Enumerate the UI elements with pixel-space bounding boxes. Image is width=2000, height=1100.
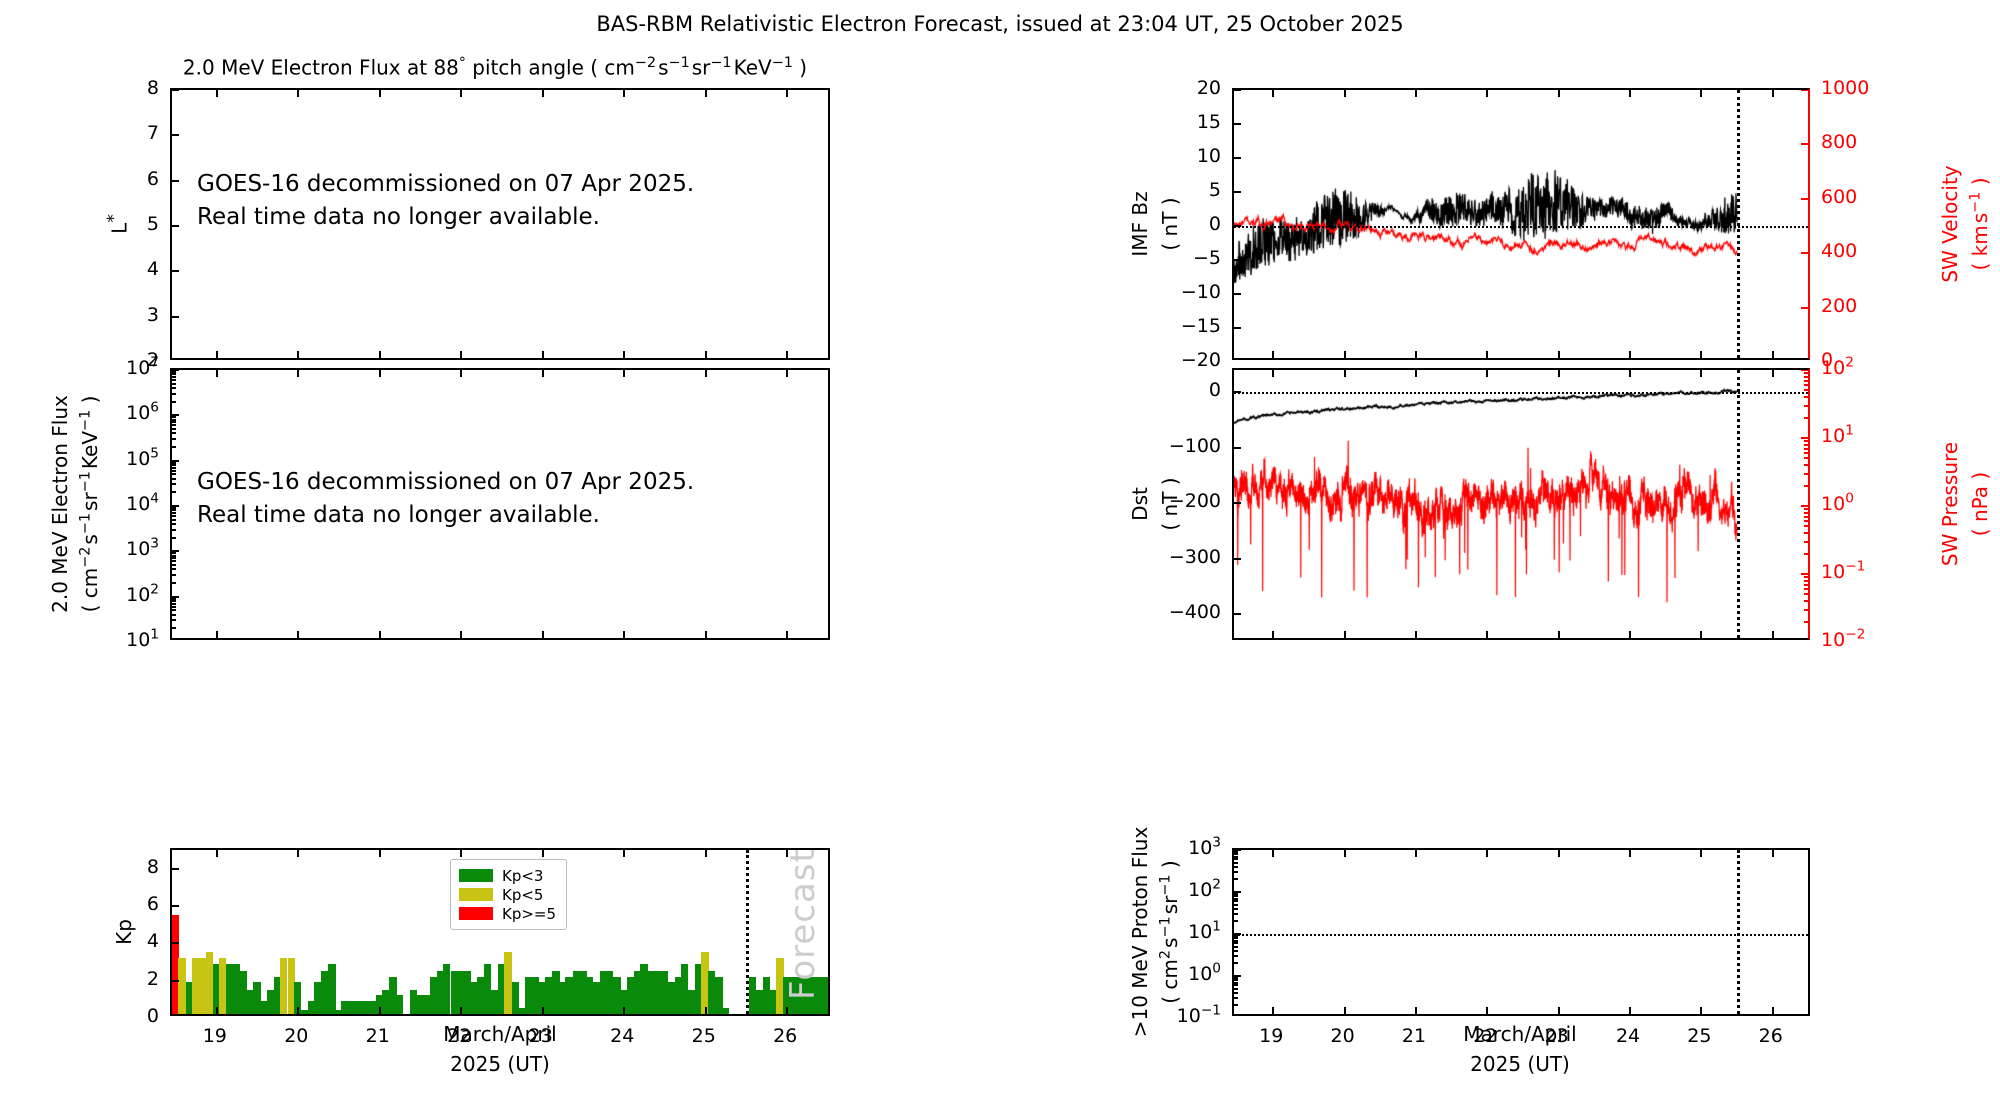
eflux-y-minortick	[172, 555, 176, 557]
eflux-y-minortick	[172, 529, 176, 531]
eflux-y-minortick	[172, 467, 176, 469]
kp-legend-label-0: Kp<3	[502, 867, 543, 885]
xtick-bottom-4	[1558, 1007, 1560, 1014]
dst-y-ticklabel-3: −100	[1169, 435, 1221, 457]
swp-y-minortick	[1804, 452, 1808, 454]
swp-y-minortick	[1804, 485, 1808, 487]
pflux-y-minortick	[1234, 900, 1238, 902]
kp-bar	[423, 995, 430, 1014]
pflux-y-minortick	[1234, 878, 1238, 880]
eflux-y-minortick	[172, 393, 176, 395]
pflux-y-tick-1	[1234, 975, 1241, 977]
xtick-bottom-2	[379, 1007, 381, 1014]
eflux-y-minortick	[172, 606, 176, 608]
xtick-bottom-0	[1272, 1007, 1274, 1014]
forecast-divider-line-proton	[1737, 850, 1740, 1014]
eflux-y-minortick	[172, 568, 176, 570]
kp-y-ticklabel-2: 4	[147, 930, 159, 952]
xtick-bottom-6	[705, 631, 707, 638]
xtick-top-6	[705, 90, 707, 97]
bz-y-tick-1	[1234, 327, 1241, 329]
swv-y-tick-1	[1801, 307, 1808, 309]
xtick-top-3	[460, 90, 462, 97]
pflux-y-minortick	[1234, 856, 1238, 858]
eflux-y-minortick	[172, 560, 176, 562]
eflux-y-minortick	[172, 438, 176, 440]
panel-dst-sw-pressure	[1232, 368, 1810, 640]
swp-y-tick-4	[1801, 369, 1808, 371]
eflux-y-minortick	[172, 478, 176, 480]
eflux-y-minortick	[172, 464, 176, 466]
xtick-bottom-3	[460, 1007, 462, 1014]
bz-y-tick-2	[1234, 293, 1241, 295]
xtick-bottom-5	[1629, 631, 1631, 638]
eflux-y-minortick	[172, 373, 176, 375]
xtick-top-3	[1486, 370, 1488, 377]
lstar-y-tick-5	[172, 134, 179, 136]
xtick-top-1	[297, 90, 299, 97]
swp-y-minortick	[1804, 473, 1808, 475]
xtick-top-2	[379, 850, 381, 857]
xtick-bottom-6	[1700, 1007, 1702, 1014]
eflux-y-minortick	[172, 432, 176, 434]
xtick-bottom-5	[1629, 1007, 1631, 1014]
pflux-y-ticklabel-1: 100	[1188, 963, 1221, 985]
bz-y-ticklabel-7: 15	[1197, 111, 1221, 133]
panel-title-electron-flux-pitch-angle: 2.0 MeV Electron Flux at 88° pitch angle…	[183, 55, 807, 80]
eflux-y-minortick	[172, 379, 176, 381]
swp-y-ticklabel-4: 102	[1821, 357, 1854, 379]
xtick-bottom-7	[1772, 351, 1774, 358]
pflux-y-minortick	[1234, 862, 1238, 864]
xtick-top-4	[1558, 850, 1560, 857]
kp-bar	[565, 977, 572, 1014]
eflux-y-minortick	[172, 537, 176, 539]
eflux-y-tick-2	[172, 550, 179, 552]
bz-y-ticklabel-1: −15	[1181, 315, 1221, 337]
swp-y-minortick	[1804, 580, 1808, 582]
xtick-bottom-7	[786, 351, 788, 358]
kp-legend-item-0: Kp<3	[459, 866, 556, 885]
bz-y-ticklabel-2: −10	[1181, 281, 1221, 303]
pflux-y-minortick	[1234, 913, 1238, 915]
xtick-top-7	[1772, 370, 1774, 377]
pflux-y-minortick	[1234, 997, 1238, 999]
pflux-xticklabel-5: 24	[1616, 1025, 1640, 1047]
kp-legend: Kp<3Kp<5Kp>=5	[450, 859, 567, 930]
kp-bar	[606, 971, 613, 1014]
pflux-y-minortick	[1234, 904, 1238, 906]
swp-y-minortick	[1804, 444, 1808, 446]
lstar-y-tick-1	[172, 316, 179, 318]
lstar-y-ticklabel-3: 5	[147, 213, 159, 235]
bz-y-tick-8	[1234, 89, 1241, 91]
eflux-y-minortick	[172, 512, 176, 514]
eflux-y-tick-4	[172, 460, 179, 462]
pflux-y-minortick	[1234, 853, 1238, 855]
xaxis-label-right-line2: 2025 (UT)	[1470, 1052, 1570, 1076]
dst-y-ticklabel-2: −200	[1169, 490, 1221, 512]
kp-bar	[504, 952, 511, 1014]
axis-label-proton-flux-line1: >10 MeV Proton Flux	[1128, 827, 1152, 1038]
xtick-top-6	[1700, 370, 1702, 377]
kp-bar	[382, 990, 389, 1014]
pflux-y-minortick	[1234, 937, 1238, 939]
swp-y-minortick	[1804, 464, 1808, 466]
xtick-bottom-6	[705, 1007, 707, 1014]
eflux-y-tick-6	[172, 369, 179, 371]
kp-bar	[301, 1010, 308, 1014]
pflux-y-minortick	[1234, 955, 1238, 957]
xtick-top-3	[460, 370, 462, 377]
kp-bar	[627, 977, 634, 1014]
pflux-y-minortick	[1234, 895, 1238, 897]
kp-bar	[586, 977, 593, 1014]
kp-bar	[341, 1001, 348, 1014]
xtick-bottom-1	[297, 631, 299, 638]
swp-y-minortick	[1804, 380, 1808, 382]
xtick-bottom-0	[1272, 631, 1274, 638]
swp-y-ticklabel-1: 10−1	[1821, 561, 1865, 583]
axis-label-imf-bz-line1: IMF Bz	[1128, 191, 1152, 256]
swp-y-minortick	[1804, 525, 1808, 527]
figure-suptitle: BAS-RBM Relativistic Electron Forecast, …	[596, 12, 1403, 36]
eflux-y-ticklabel-6: 107	[126, 357, 159, 379]
xaxis-label-left-line2: 2025 (UT)	[450, 1052, 550, 1076]
kp-bar	[647, 971, 654, 1014]
kp-y-tick-1	[172, 980, 179, 982]
kp-legend-item-1: Kp<5	[459, 885, 556, 904]
pflux-y-tick-3	[1234, 891, 1241, 893]
xtick-bottom-1	[297, 1007, 299, 1014]
axis-label-lstar: L*	[104, 214, 132, 234]
xtick-top-5	[1629, 850, 1631, 857]
swv-y-ticklabel-2: 400	[1821, 240, 1857, 262]
eflux-y-minortick	[172, 619, 176, 621]
lstar-y-ticklabel-4: 6	[147, 168, 159, 190]
xtick-bottom-6	[705, 351, 707, 358]
xtick-top-3	[460, 850, 462, 857]
xtick-bottom-2	[379, 631, 381, 638]
pflux-y-minortick	[1234, 942, 1238, 944]
swp-y-minortick	[1804, 457, 1808, 459]
eflux-message-line1: GOES-16 decommissioned on 07 Apr 2025.	[197, 466, 694, 499]
eflux-y-minortick	[172, 552, 176, 554]
bz-y-tick-4	[1234, 225, 1241, 227]
dst-zero-line	[1234, 392, 1808, 394]
xtick-top-5	[623, 90, 625, 97]
xtick-top-6	[705, 370, 707, 377]
kp-bar	[321, 971, 328, 1014]
pflux-xticklabel-7: 26	[1759, 1025, 1783, 1047]
bz-y-ticklabel-4: 0	[1209, 213, 1221, 235]
kp-xticklabel-3: 22	[447, 1025, 471, 1047]
xtick-top-1	[1344, 370, 1346, 377]
kp-xticklabel-6: 25	[692, 1025, 716, 1047]
eflux-y-minortick	[172, 424, 176, 426]
eflux-y-ticklabel-2: 103	[126, 538, 159, 560]
swp-y-minortick	[1804, 512, 1808, 514]
pflux-y-ticklabel-0: 10−1	[1177, 1005, 1221, 1027]
pflux-y-minortick	[1234, 992, 1238, 994]
eflux-y-minortick	[172, 523, 176, 525]
pflux-y-minortick	[1234, 984, 1238, 986]
xtick-bottom-1	[1344, 631, 1346, 638]
eflux-y-minortick	[172, 462, 176, 464]
axis-label-proton-flux-line2: ( cm2 s−1 sr−1 )	[1158, 860, 1182, 1003]
eflux-y-minortick	[172, 603, 176, 605]
swp-y-minortick	[1804, 541, 1808, 543]
xtick-bottom-3	[460, 631, 462, 638]
xtick-top-5	[1629, 370, 1631, 377]
xtick-top-3	[1486, 90, 1488, 97]
pflux-y-minortick	[1234, 920, 1238, 922]
xtick-bottom-5	[1629, 351, 1631, 358]
swp-y-minortick	[1804, 396, 1808, 398]
swp-y-minortick	[1804, 516, 1808, 518]
swp-y-minortick	[1804, 372, 1808, 374]
pflux-y-ticklabel-4: 103	[1188, 837, 1221, 859]
xtick-top-0	[216, 370, 218, 377]
xtick-bottom-3	[1486, 631, 1488, 638]
pflux-y-minortick	[1234, 946, 1238, 948]
panel-electron-flux: GOES-16 decommissioned on 07 Apr 2025. R…	[170, 368, 830, 640]
xtick-bottom-5	[623, 351, 625, 358]
swp-y-tick-3	[1801, 437, 1808, 439]
xtick-bottom-2	[379, 351, 381, 358]
xtick-top-4	[1558, 370, 1560, 377]
kp-y-ticklabel-0: 0	[147, 1005, 159, 1027]
imf-bz-zero-line	[1234, 226, 1808, 228]
kp-bar	[199, 958, 206, 1014]
swp-y-minortick	[1804, 532, 1808, 534]
kp-bar	[525, 977, 532, 1014]
pflux-xticklabel-3: 22	[1473, 1025, 1497, 1047]
pflux-xticklabel-0: 19	[1259, 1025, 1283, 1047]
pflux-y-minortick	[1234, 935, 1238, 937]
swv-y-tick-4	[1801, 143, 1808, 145]
xtick-top-6	[705, 850, 707, 857]
pflux-y-minortick	[1234, 908, 1238, 910]
lstar-y-tick-4	[172, 180, 179, 182]
swp-y-minortick	[1804, 508, 1808, 510]
xtick-bottom-7	[1772, 631, 1774, 638]
xtick-bottom-7	[1772, 1007, 1774, 1014]
pflux-xticklabel-2: 21	[1402, 1025, 1426, 1047]
kp-y-tick-2	[172, 942, 179, 944]
swp-y-minortick	[1804, 376, 1808, 378]
pflux-y-ticklabel-3: 102	[1188, 879, 1221, 901]
axis-label-electron-flux-line1: 2.0 MeV Electron Flux	[48, 395, 72, 613]
bz-y-tick-5	[1234, 191, 1241, 193]
axis-label-sw-velocity-line1: SW Velocity	[1938, 165, 1962, 282]
pflux-y-minortick	[1234, 858, 1238, 860]
xtick-top-2	[379, 90, 381, 97]
axis-label-sw-velocity-line2: ( km s−1 )	[1968, 177, 1992, 270]
kp-legend-swatch-0	[459, 869, 493, 882]
xtick-bottom-4	[542, 351, 544, 358]
kp-y-ticklabel-1: 2	[147, 968, 159, 990]
swp-y-ticklabel-3: 101	[1821, 425, 1854, 447]
eflux-y-minortick	[172, 609, 176, 611]
eflux-y-minortick	[172, 600, 176, 602]
kp-y-tick-3	[172, 905, 179, 907]
kp-bar	[396, 995, 403, 1014]
xtick-bottom-2	[1415, 351, 1417, 358]
xtick-top-7	[1772, 90, 1774, 97]
pflux-y-minortick	[1234, 893, 1238, 895]
lstar-y-ticklabel-6: 8	[147, 77, 159, 99]
pflux-y-minortick	[1234, 1004, 1238, 1006]
xtick-bottom-2	[1415, 1007, 1417, 1014]
eflux-y-minortick	[172, 491, 176, 493]
kp-bar	[443, 964, 450, 1014]
xtick-top-2	[1415, 90, 1417, 97]
pflux-y-minortick	[1234, 979, 1238, 981]
xtick-bottom-6	[1700, 631, 1702, 638]
swp-y-minortick	[1804, 588, 1808, 590]
axis-label-electron-flux-line2: ( cm−2 s−1 sr−1 KeV−1 )	[78, 396, 102, 613]
axis-label-kp: Kp	[112, 919, 136, 945]
kp-xticklabel-7: 26	[773, 1025, 797, 1047]
pflux-y-minortick	[1234, 982, 1238, 984]
dst-y-ticklabel-1: −300	[1169, 546, 1221, 568]
xtick-top-1	[1344, 850, 1346, 857]
lstar-message-line1: GOES-16 decommissioned on 07 Apr 2025.	[197, 168, 694, 201]
bz-y-ticklabel-3: −5	[1193, 247, 1221, 269]
eflux-y-ticklabel-1: 102	[126, 584, 159, 606]
kp-legend-label-1: Kp<5	[502, 886, 543, 904]
kp-bar	[239, 971, 246, 1014]
swp-y-minortick	[1804, 448, 1808, 450]
axis-label-sw-pressure-line1: SW Pressure	[1938, 442, 1962, 566]
xtick-top-0	[216, 850, 218, 857]
xtick-top-7	[786, 850, 788, 857]
eflux-y-minortick	[172, 428, 176, 430]
bz-y-tick-6	[1234, 157, 1241, 159]
lstar-y-ticklabel-5: 7	[147, 122, 159, 144]
swp-y-minortick	[1804, 384, 1808, 386]
eflux-y-minortick	[172, 515, 176, 517]
swv-y-ticklabel-3: 600	[1821, 186, 1857, 208]
kp-xticklabel-5: 24	[610, 1025, 634, 1047]
eflux-y-minortick	[172, 574, 176, 576]
xtick-bottom-5	[623, 1007, 625, 1014]
dst-y-tick-2	[1234, 502, 1241, 504]
proton-flux-threshold-line	[1234, 934, 1808, 936]
xtick-bottom-0	[1272, 351, 1274, 358]
xtick-bottom-7	[786, 631, 788, 638]
swv-y-ticklabel-4: 800	[1821, 131, 1857, 153]
eflux-y-minortick	[172, 614, 176, 616]
xtick-bottom-0	[216, 631, 218, 638]
pflux-y-minortick	[1234, 940, 1238, 942]
xtick-bottom-4	[542, 631, 544, 638]
lstar-y-tick-6	[172, 89, 179, 91]
swv-y-ticklabel-1: 200	[1821, 295, 1857, 317]
eflux-y-minortick	[172, 376, 176, 378]
swp-y-minortick	[1804, 621, 1808, 623]
eflux-y-minortick	[172, 582, 176, 584]
pflux-y-minortick	[1234, 950, 1238, 952]
bz-y-ticklabel-6: 10	[1197, 145, 1221, 167]
pflux-y-minortick	[1234, 962, 1238, 964]
kp-legend-swatch-2	[459, 907, 493, 920]
kp-xticklabel-0: 19	[203, 1025, 227, 1047]
swp-y-ticklabel-2: 100	[1821, 493, 1854, 515]
swp-y-minortick	[1804, 520, 1808, 522]
xtick-top-2	[1415, 370, 1417, 377]
eflux-y-minortick	[172, 483, 176, 485]
xtick-top-0	[216, 90, 218, 97]
pflux-y-minortick	[1234, 898, 1238, 900]
eflux-y-tick-3	[172, 505, 179, 507]
eflux-y-minortick	[172, 507, 176, 509]
eflux-y-ticklabel-3: 104	[126, 493, 159, 515]
lstar-y-ticklabel-2: 4	[147, 258, 159, 280]
xtick-bottom-1	[1344, 351, 1346, 358]
kp-bar	[545, 977, 552, 1014]
xtick-top-0	[1272, 370, 1274, 377]
xtick-top-2	[1415, 850, 1417, 857]
kp-bar	[708, 971, 715, 1014]
swp-y-minortick	[1804, 576, 1808, 578]
xtick-bottom-7	[786, 1007, 788, 1014]
xtick-top-4	[542, 370, 544, 377]
eflux-y-minortick	[172, 387, 176, 389]
eflux-y-minortick	[172, 473, 176, 475]
forecast-divider-line-bz	[1737, 90, 1740, 358]
bz-y-tick-3	[1234, 259, 1241, 261]
axis-label-dst-line1: Dst	[1128, 487, 1152, 521]
kp-legend-swatch-1	[459, 888, 493, 901]
eflux-y-tick-5	[172, 414, 179, 416]
eflux-y-minortick	[172, 557, 176, 559]
xtick-bottom-0	[216, 1007, 218, 1014]
xtick-bottom-2	[1415, 631, 1417, 638]
pflux-y-minortick	[1234, 988, 1238, 990]
xtick-top-7	[1772, 850, 1774, 857]
xtick-top-1	[1344, 90, 1346, 97]
dst-y-tick-3	[1234, 447, 1241, 449]
kp-bar	[824, 977, 830, 1014]
kp-bar	[260, 1001, 267, 1014]
xtick-bottom-3	[460, 351, 462, 358]
kp-y-ticklabel-3: 6	[147, 893, 159, 915]
kp-bar	[280, 958, 287, 1014]
eflux-y-tick-1	[172, 596, 179, 598]
dst-y-ticklabel-4: 0	[1209, 379, 1221, 401]
kp-bar	[328, 964, 335, 1014]
kp-bar	[667, 982, 674, 1014]
swv-y-tick-3	[1801, 198, 1808, 200]
eflux-y-minortick	[172, 371, 176, 373]
kp-legend-item-2: Kp>=5	[459, 904, 556, 923]
pflux-xticklabel-1: 20	[1331, 1025, 1355, 1047]
kp-bar	[178, 958, 185, 1014]
xtick-top-5	[623, 850, 625, 857]
forecast-watermark: Forecast	[783, 848, 823, 1000]
kp-legend-label-2: Kp>=5	[502, 905, 556, 923]
forecast-divider-line-dst	[1737, 370, 1740, 638]
xtick-bottom-5	[623, 631, 625, 638]
kp-bar	[769, 990, 776, 1014]
dst-y-tick-1	[1234, 558, 1241, 560]
kp-xticklabel-4: 23	[529, 1025, 553, 1047]
eflux-y-minortick	[172, 470, 176, 472]
eflux-decommission-message: GOES-16 decommissioned on 07 Apr 2025. R…	[197, 466, 694, 533]
swp-y-minortick	[1804, 405, 1808, 407]
